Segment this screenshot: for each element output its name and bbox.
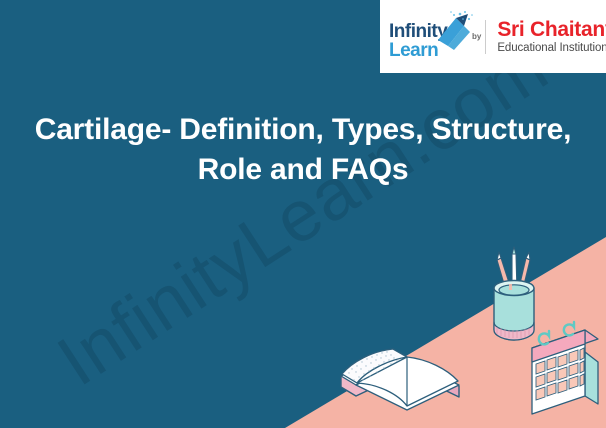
arrow-bird-icon: [434, 10, 474, 52]
sri-chaitanya-logo: Sri Chaitanya Educational Institutions: [490, 19, 606, 55]
sri-chaitanya-subtitle: Educational Institutions: [497, 43, 606, 55]
page-title: Cartilage- Definition, Types, Structure,…: [30, 110, 576, 189]
vertical-divider: [485, 20, 486, 54]
infinity-learn-line2: Learn: [389, 41, 438, 60]
poster-canvas: InfinityLearn.com: [0, 0, 606, 428]
brand-logo-bar: Infinity Learn by Sri Chaitanya Educatio…: [380, 0, 606, 73]
sri-chaitanya-name: Sri Chaitanya: [497, 19, 606, 40]
infinity-learn-logo: Infinity Learn: [388, 8, 472, 66]
by-separator: by: [472, 17, 486, 57]
